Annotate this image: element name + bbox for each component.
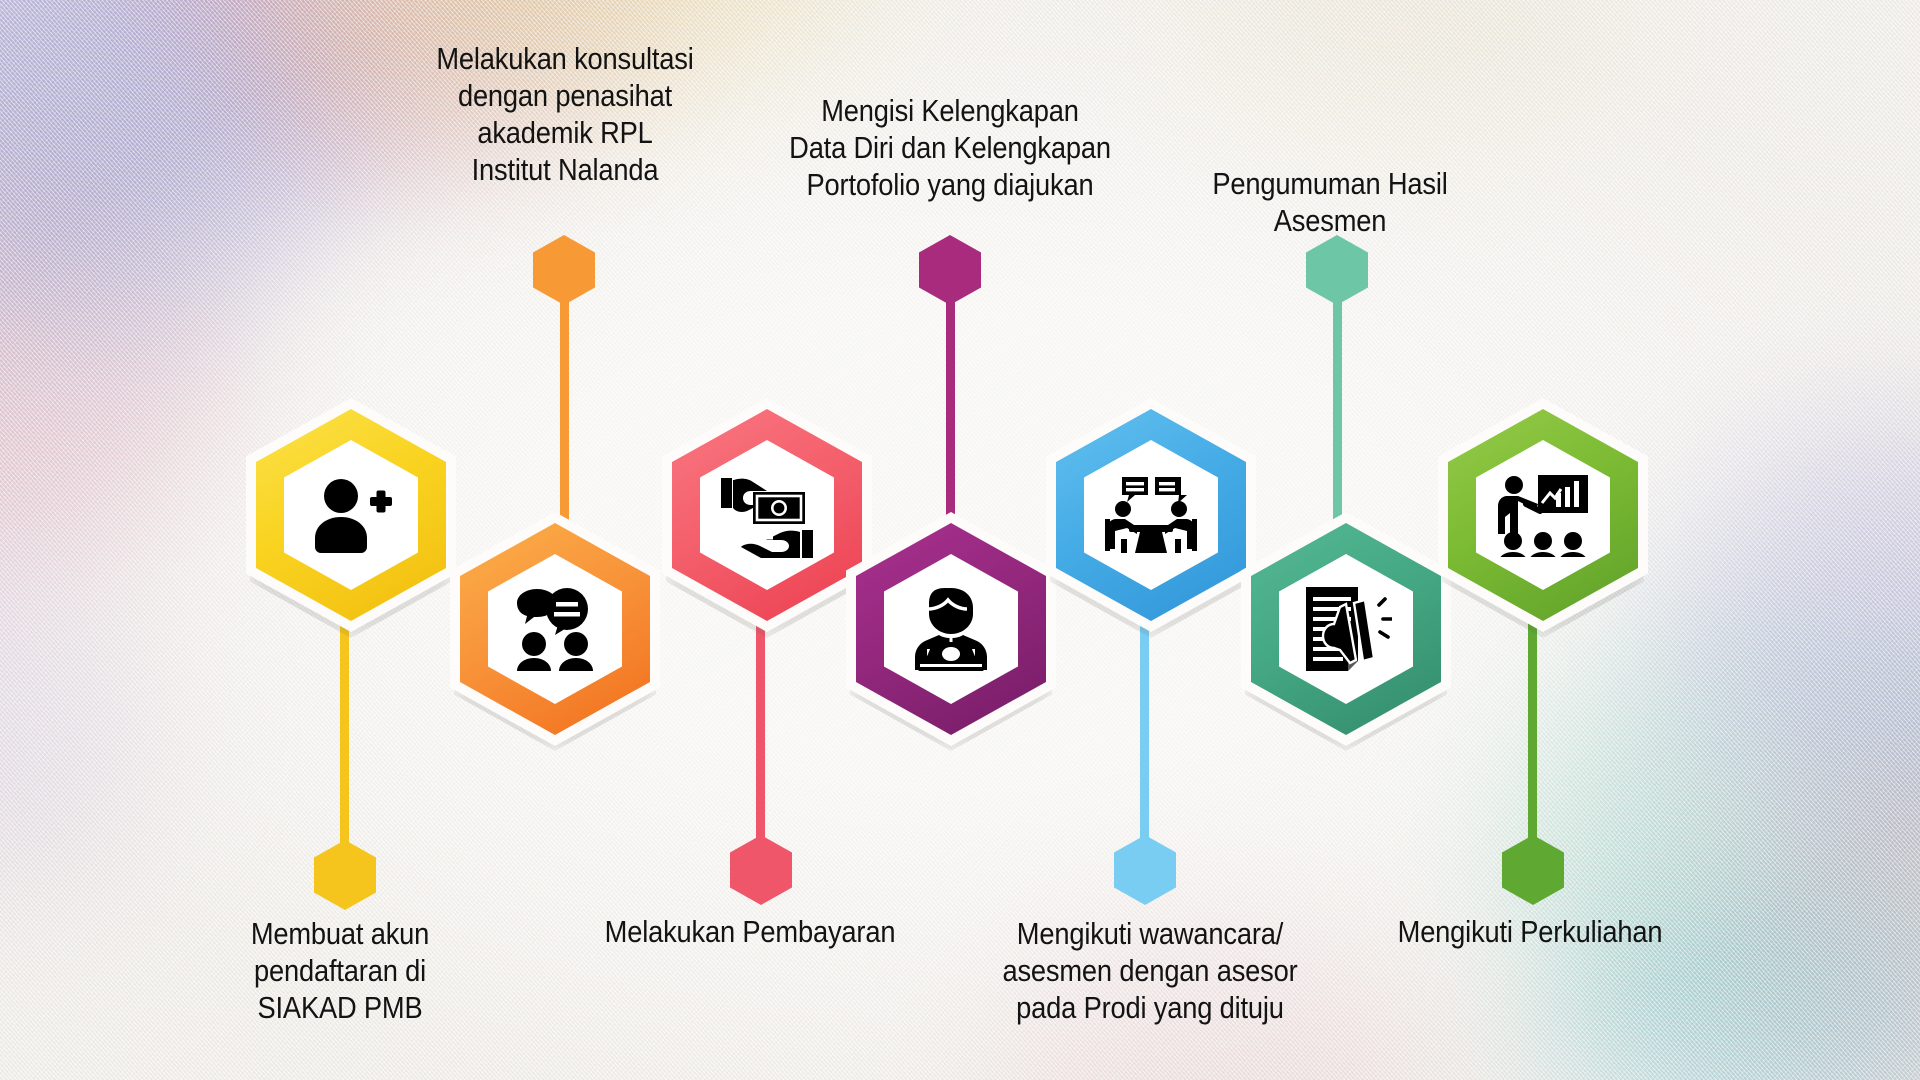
step-label-5: Mengikuti wawancara/ asesmen dengan ases… xyxy=(996,915,1304,1026)
interview-table-icon xyxy=(1103,473,1199,557)
step-label-1: Membuat akun pendaftaran di SIAKAD PMB xyxy=(212,915,467,1026)
announcement-megaphone-document-icon xyxy=(1300,585,1392,673)
marker-hex-6 xyxy=(1306,235,1368,305)
step-label-6: Pengumuman Hasil Asesmen xyxy=(1158,165,1501,239)
payment-hand-money-icon xyxy=(719,472,815,558)
add-user-icon xyxy=(308,477,394,553)
step-label-3: Melakukan Pembayaran xyxy=(600,913,899,950)
marker-hex-5 xyxy=(1114,835,1176,905)
classroom-presentation-icon xyxy=(1496,473,1590,557)
marker-hex-2 xyxy=(533,235,595,305)
step-label-2: Melakukan konsultasi dengan penasihat ak… xyxy=(415,40,714,188)
infographic-canvas: Membuat akun pendaftaran di SIAKAD PMB M… xyxy=(0,0,1920,1080)
marker-hex-4 xyxy=(919,235,981,305)
marker-hex-1 xyxy=(314,840,376,910)
consultation-chat-icon xyxy=(509,587,601,671)
person-laptop-icon xyxy=(906,586,996,672)
marker-hex-7 xyxy=(1502,835,1564,905)
marker-hex-3 xyxy=(730,835,792,905)
step-label-7: Mengikuti Perkuliahan xyxy=(1389,913,1671,950)
step-label-4: Mengisi Kelengkapan Data Diri dan Keleng… xyxy=(783,92,1117,203)
